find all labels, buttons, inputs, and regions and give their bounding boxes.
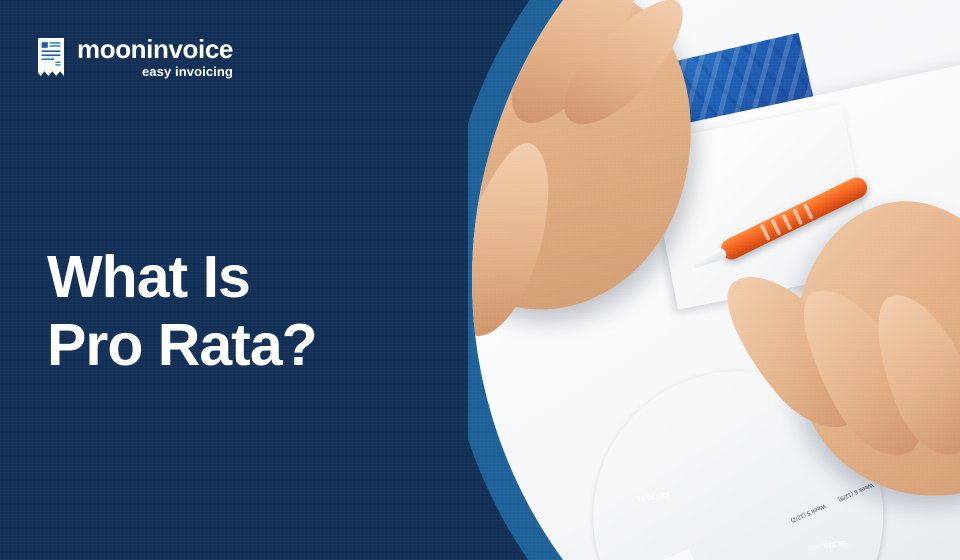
page-title: What Is Pro Rata? (47, 243, 317, 379)
brand-name: mooninvoice (77, 35, 233, 63)
brand-wordmark: mooninvoice easy invoicing (77, 35, 233, 79)
brand-tagline: easy invoicing (142, 64, 233, 79)
brand-logo[interactable]: mooninvoice easy invoicing (36, 35, 233, 79)
marketing-banner: $2,730,000 $639,450 $5,320,500 $1,250,00… (0, 0, 960, 560)
page-title-line-1: What Is (47, 243, 317, 311)
invoice-document-icon (36, 38, 66, 76)
page-title-line-2: Pro Rata? (47, 311, 317, 379)
hero-photo: $2,730,000 $639,450 $5,320,500 $1,250,00… (472, 0, 960, 560)
hero-photo-content: $2,730,000 $639,450 $5,320,500 $1,250,00… (472, 0, 960, 560)
pie-label-green: $2,730,000 (631, 490, 670, 502)
